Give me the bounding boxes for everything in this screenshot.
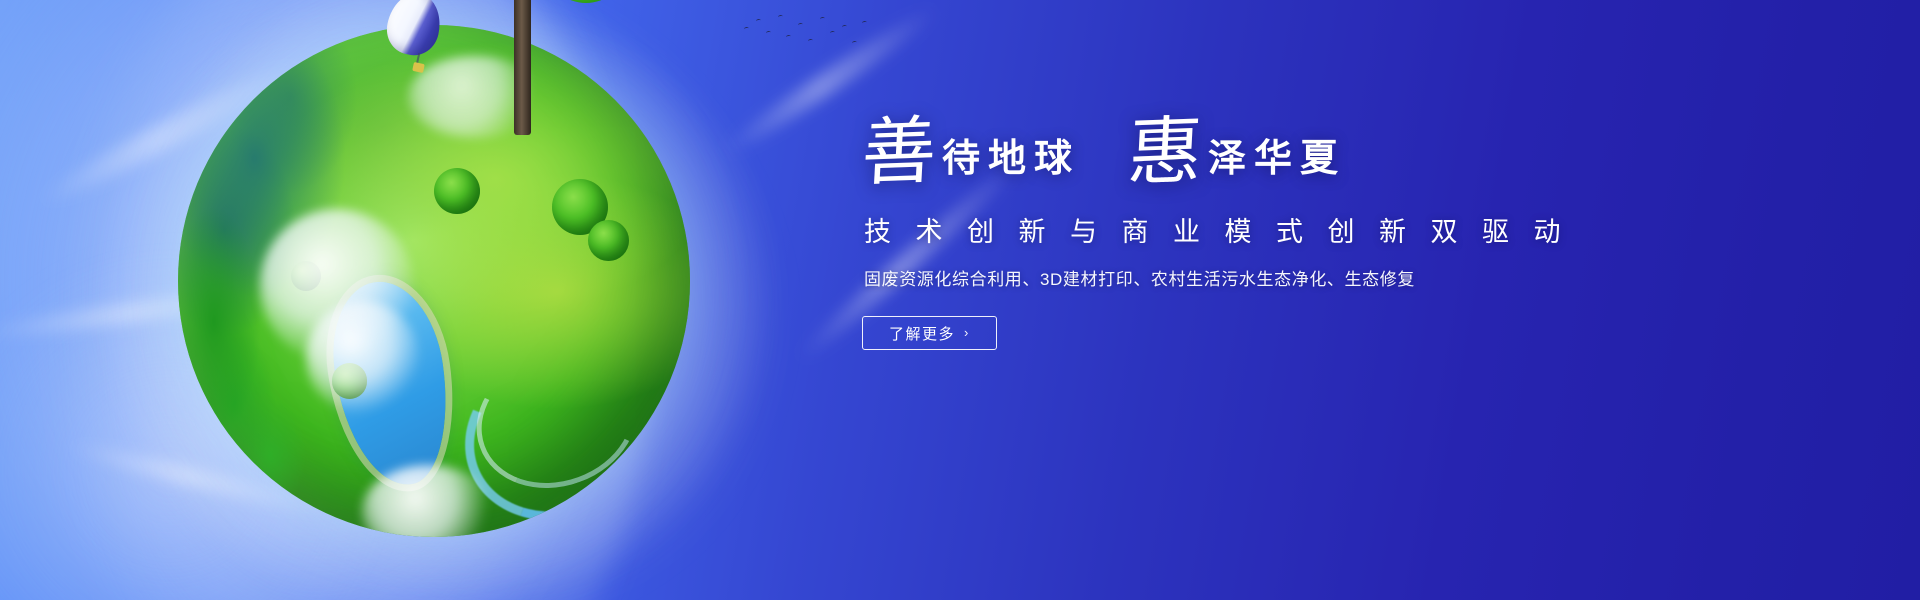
cloud-haze [250,40,770,600]
cloud-icon [408,56,541,138]
terrain-forest [178,25,690,537]
tree-icon [332,363,368,399]
cloud-icon [362,465,495,537]
cloud-wisp [0,275,330,345]
cloud-haze [0,0,747,600]
balloon-rope [416,53,420,65]
learn-more-label: 了解更多 [889,323,955,344]
cloud-icon [260,209,414,363]
globe-glow [110,0,760,600]
tree-icon [291,261,322,292]
banner-subtitle: 技 术 创 新 与 商 业 模 式 创 新 双 驱 动 [864,216,1562,250]
terrain-grass [178,25,690,537]
hero-banner: 善 待地球 惠 泽华夏 技 术 创 新 与 商 业 模 式 创 新 双 驱 动 … [0,0,1920,600]
cloud-wisp [62,436,338,521]
cloud-haze [0,260,380,600]
globe-illustration [150,0,720,600]
banner-description: 固废资源化综合利用、3D建材打印、农村生活污水生态净化、生态修复 [864,267,1562,293]
headline-rest-2: 泽华夏 [1206,140,1346,186]
cloud-haze [3,0,677,600]
headline-rest-1: 待地球 [940,140,1080,186]
river-icon [457,329,656,510]
learn-more-button[interactable]: 了解更多 › [862,316,997,350]
chevron-right-icon: › [964,326,970,339]
terrain-mountains [178,25,690,537]
balloon-envelope [382,0,446,60]
headline: 善 待地球 惠 泽华夏 [862,118,1562,186]
lake-icon [323,275,458,493]
tree-trunk [514,0,531,135]
tree-icon [434,168,480,214]
hot-air-balloon-icon [388,0,444,79]
birds-icon [742,9,872,55]
tree-icon [552,179,608,235]
tiny-planet-globe [178,25,690,537]
banner-content: 善 待地球 惠 泽华夏 技 术 创 新 与 商 业 模 式 创 新 双 驱 动 … [862,118,1562,350]
river-icon [436,309,690,537]
headline-brush-char-1: 善 [860,117,942,188]
balloon-basket [412,62,425,73]
cloud-icon [306,301,419,414]
tree-icon [588,220,629,261]
large-tree-icon [418,0,628,135]
tree-crown [550,0,622,3]
headline-brush-char-2: 惠 [1126,117,1208,188]
cloud-wisp [31,51,308,215]
